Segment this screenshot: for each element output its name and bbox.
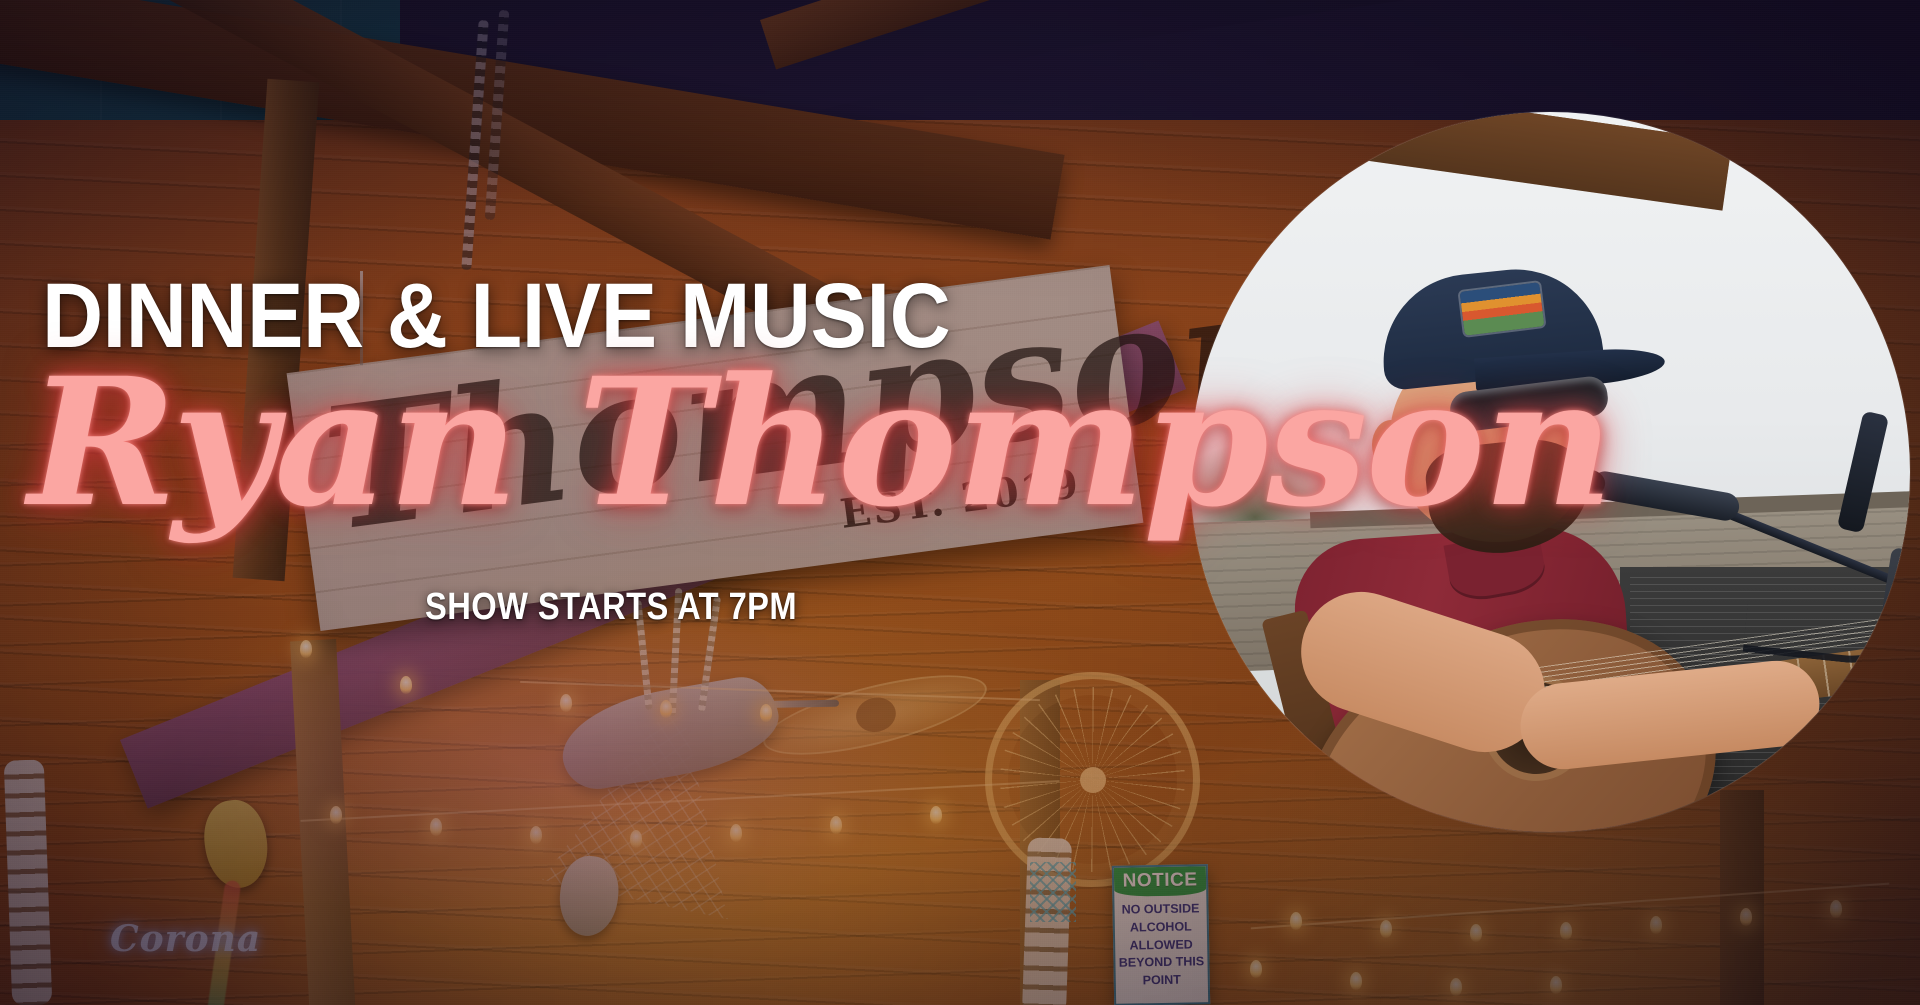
string-light-bulb [1470, 924, 1482, 942]
bicycle-wheel-decor [985, 672, 1200, 887]
string-light-bulb [630, 830, 642, 848]
string-light-bulb [1830, 900, 1842, 918]
string-light-bulb [1290, 912, 1302, 930]
string-light-bulb [300, 640, 312, 658]
string-light-bulb [1650, 916, 1662, 934]
string-light-bulb [530, 826, 542, 844]
string-light-bulb [730, 824, 742, 842]
string-light-bulb [1740, 908, 1752, 926]
string-light-bulb [330, 806, 342, 824]
string-light-bulb [1560, 922, 1572, 940]
string-light-bulb [830, 816, 842, 834]
string-light-bulb [1350, 972, 1362, 990]
blue-net-decor [1030, 862, 1076, 922]
notice-sign-body: NO OUTSIDE ALCOHOL ALLOWED BEYOND THIS P… [1114, 895, 1208, 990]
string-light-bulb [430, 818, 442, 836]
string-light-bulb [1550, 976, 1562, 994]
notice-sign: NOTICE NO OUTSIDE ALCOHOL ALLOWED BEYOND… [1112, 864, 1210, 1005]
notice-line: NO OUTSIDE [1117, 900, 1203, 919]
shell-garland [4, 759, 53, 1005]
string-light-bulb [1380, 920, 1392, 938]
artist-name: Ryan Thompson [28, 355, 1612, 531]
showtime-text: SHOW STARTS AT 7PM [425, 588, 797, 626]
corona-neon-sign: Corona [110, 918, 261, 960]
string-light-bulb [760, 704, 772, 722]
string-light-bulb [930, 806, 942, 824]
string-light-bulb [660, 700, 672, 718]
notice-line: ALLOWED [1118, 936, 1204, 955]
notice-line: POINT [1119, 971, 1205, 990]
notice-line: BEYOND THIS [1118, 953, 1204, 972]
notice-line: ALCOHOL [1118, 918, 1204, 937]
string-light-bulb [1250, 960, 1262, 978]
notice-sign-header: NOTICE [1114, 866, 1206, 897]
string-light-bulb [400, 676, 412, 694]
event-promo-banner: Thompson EST. 2019 Corona NOTICE NO OUTS… [0, 0, 1920, 1005]
string-light-bulb [560, 694, 572, 712]
string-light-bulb [1450, 978, 1462, 996]
